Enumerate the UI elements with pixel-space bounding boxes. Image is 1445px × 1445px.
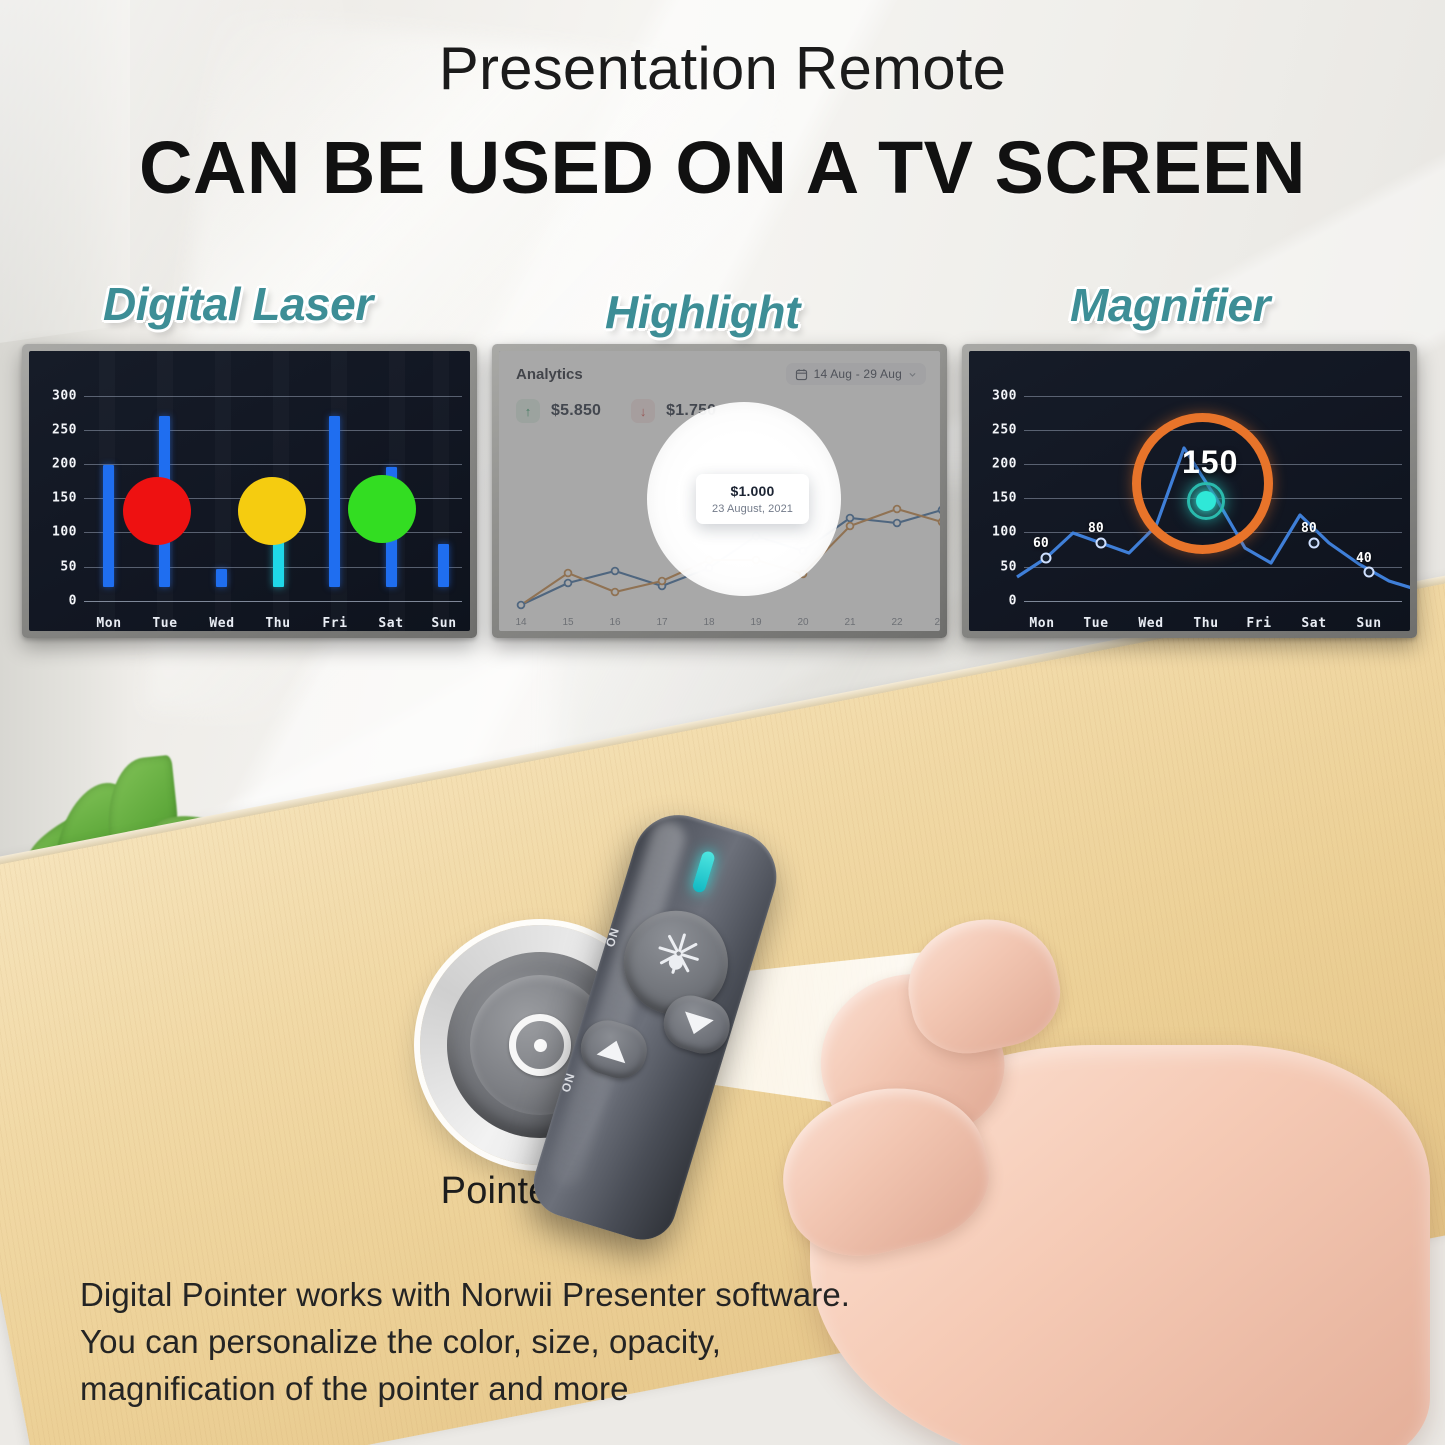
page-subtitle: CAN BE USED ON A TV SCREEN xyxy=(0,125,1445,210)
x-tick-label: Thu xyxy=(1193,616,1218,631)
data-point-marker xyxy=(1096,538,1107,549)
x-tick-label: Sun xyxy=(1356,616,1381,631)
x-tick-label: Sat xyxy=(1301,616,1326,631)
x-tick-label: Mon xyxy=(1029,616,1054,631)
x-tick-label: Fri xyxy=(1246,616,1271,631)
tv-panel-digital-laser: 300 250 200 150 100 50 0 Mon Tue Wed Thu xyxy=(22,344,477,638)
page-title: Presentation Remote xyxy=(0,34,1445,103)
x-tick-label: Thu xyxy=(265,616,290,631)
chart-tooltip: $1.000 23 August, 2021 xyxy=(696,474,809,524)
x-tick-label: Sun xyxy=(431,616,456,631)
y-tick-label: 200 xyxy=(31,457,77,472)
data-point-marker xyxy=(1309,538,1320,549)
data-point-marker xyxy=(1041,553,1052,564)
tv-panel-magnifier: 300 250 200 150 100 50 0 60 80 80 40 150 xyxy=(962,344,1417,638)
data-point-label: 80 xyxy=(1088,521,1104,536)
x-tick-label: Sat xyxy=(378,616,403,631)
laser-dot-yellow xyxy=(238,477,306,545)
x-tick-label: Wed xyxy=(1138,616,1163,631)
laser-dot-green xyxy=(348,475,416,543)
data-point-marker xyxy=(1364,567,1375,578)
tv-screen-highlight: Analytics 14 Aug - 29 Aug ↑ $5.850 ↓ xyxy=(499,351,940,631)
laser-dot-red xyxy=(123,477,191,545)
x-tick-label: Fri xyxy=(322,616,347,631)
triangle-up-icon xyxy=(597,1036,631,1063)
x-tick-label: Wed xyxy=(209,616,234,631)
magnifier-line-chart: 300 250 200 150 100 50 0 60 80 80 40 150 xyxy=(969,351,1410,631)
bar-mon xyxy=(103,465,114,587)
analytics-dashboard: Analytics 14 Aug - 29 Aug ↑ $5.850 ↓ xyxy=(499,351,940,631)
bar-wed xyxy=(216,569,227,587)
tv-screen-digital-laser: 300 250 200 150 100 50 0 Mon Tue Wed Thu xyxy=(29,351,470,631)
tooltip-value: $1.000 xyxy=(712,483,793,499)
bar-chart: 300 250 200 150 100 50 0 Mon Tue Wed Thu xyxy=(29,351,470,631)
y-tick-label: 0 xyxy=(31,594,77,609)
y-tick-label: 150 xyxy=(31,491,77,506)
y-tick-label: 250 xyxy=(31,423,77,438)
y-tick-label: 100 xyxy=(31,525,77,540)
tv-screen-magnifier: 300 250 200 150 100 50 0 60 80 80 40 150 xyxy=(969,351,1410,631)
y-tick-label: 50 xyxy=(31,560,77,575)
x-tick-label: Mon xyxy=(96,616,121,631)
pointer-core-icon xyxy=(534,1039,547,1052)
pointer-dot xyxy=(1187,482,1225,520)
bar-sun xyxy=(438,544,449,587)
feature-label-magnifier: Magnifier xyxy=(1070,278,1270,332)
feature-label-highlight: Highlight xyxy=(605,285,800,339)
data-point-label: 80 xyxy=(1301,521,1317,536)
bar-fri xyxy=(329,416,340,587)
data-point-label: 40 xyxy=(1356,551,1372,566)
tv-panel-highlight: Analytics 14 Aug - 29 Aug ↑ $5.850 ↓ xyxy=(492,344,947,638)
magnified-value-label: 150 xyxy=(1182,444,1238,481)
pointer-ring-icon xyxy=(509,1014,571,1076)
data-point-label: 60 xyxy=(1033,536,1049,551)
y-tick-label: 300 xyxy=(31,389,77,404)
pointer-dot-core xyxy=(1196,491,1216,511)
x-tick-label: Tue xyxy=(152,616,177,631)
triangle-down-icon xyxy=(680,1011,714,1038)
header-block: Presentation Remote CAN BE USED ON A TV … xyxy=(0,34,1445,210)
footer-paragraph: Digital Pointer works with Norwii Presen… xyxy=(80,1272,870,1413)
feature-label-digital-laser: Digital Laser xyxy=(103,277,373,331)
tooltip-date: 23 August, 2021 xyxy=(712,503,793,515)
x-tick-label: Tue xyxy=(1083,616,1108,631)
laser-sun-icon xyxy=(650,936,702,988)
